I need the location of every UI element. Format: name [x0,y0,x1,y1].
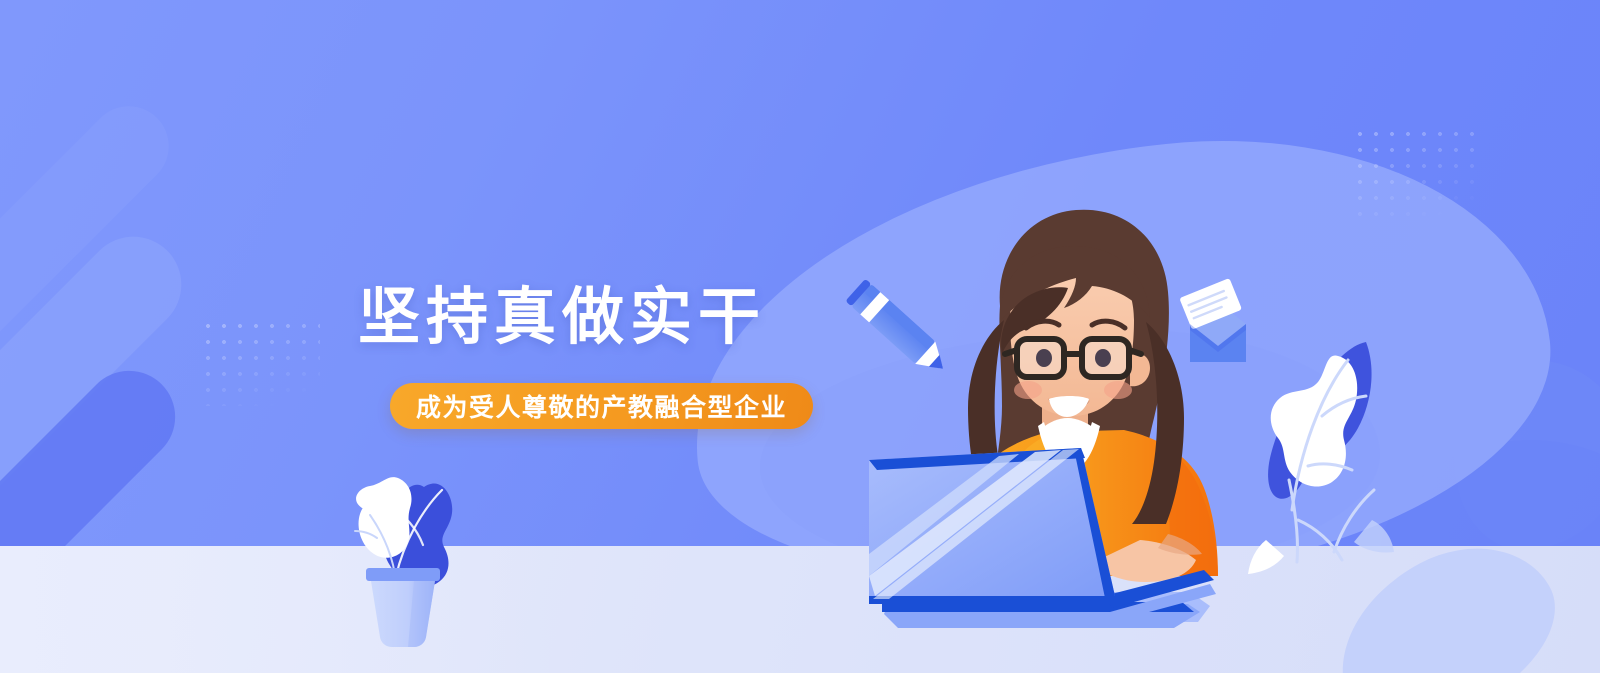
subtitle-badge-label: 成为受人尊敬的产教融合型企业 [416,388,787,424]
hero-banner: 坚持真做实干 成为受人尊敬的产教融合型企业 [0,0,1600,673]
hero-text-block: 坚持真做实干 成为受人尊敬的产教融合型企业 [0,0,1600,673]
subtitle-badge: 成为受人尊敬的产教融合型企业 [390,383,813,429]
page-title: 坚持真做实干 [358,285,766,350]
